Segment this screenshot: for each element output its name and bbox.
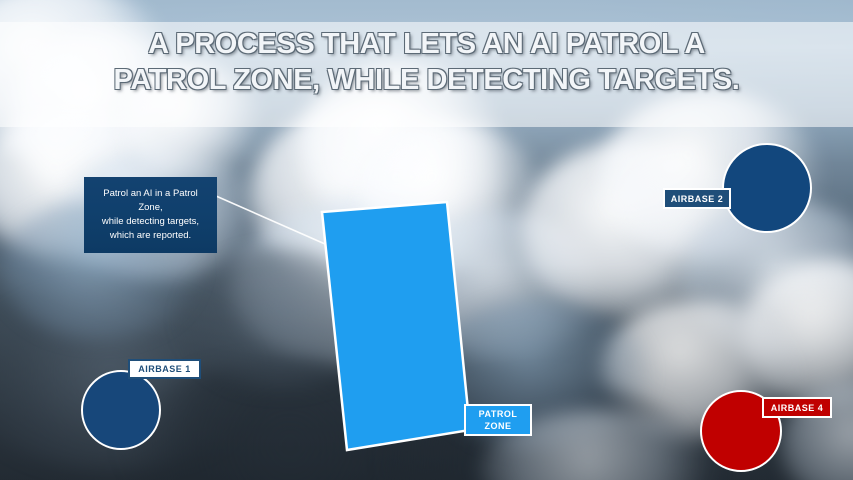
callout-text: Patrol an AI in a Patrol Zone, while det… bbox=[84, 187, 217, 243]
airbase-2-circle[interactable] bbox=[722, 143, 812, 233]
page-title: A PROCESS THAT LETS AN AI PATROL A PATRO… bbox=[0, 26, 853, 98]
label-airbase-2[interactable]: AIRBASE 2 bbox=[663, 188, 731, 209]
slide-canvas: A PROCESS THAT LETS AN AI PATROL A PATRO… bbox=[0, 0, 853, 480]
patrol-zone-label-line-1: PATROL bbox=[479, 408, 518, 420]
label-patrol-zone[interactable]: PATROL ZONE bbox=[464, 404, 532, 436]
patrol-zone-label-line-2: ZONE bbox=[484, 420, 511, 432]
label-airbase-1[interactable]: AIRBASE 1 bbox=[128, 359, 201, 379]
label-airbase-4[interactable]: AIRBASE 4 bbox=[762, 397, 832, 418]
airbase-1-circle[interactable] bbox=[81, 370, 161, 450]
callout-box[interactable]: Patrol an AI in a Patrol Zone, while det… bbox=[84, 177, 217, 253]
